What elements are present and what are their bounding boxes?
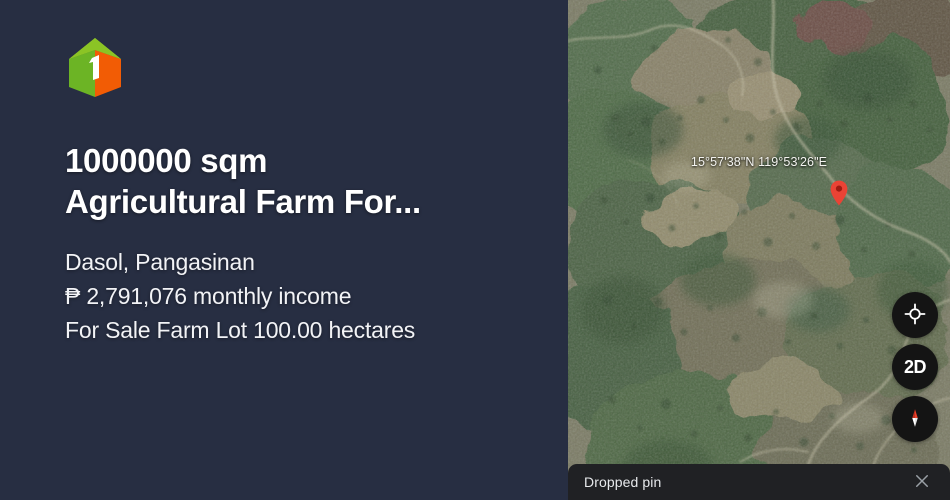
listing-location: Dasol, Pangasinan	[65, 245, 545, 279]
map-pin-icon[interactable]	[830, 180, 848, 206]
compass-button[interactable]	[892, 396, 938, 442]
listing-preview-card: 1000000 sqm Agricultural Farm For... Das…	[0, 0, 950, 500]
listing-meta: Dasol, Pangasinan ₱ 2,791,076 monthly in…	[65, 245, 545, 347]
listing-price: ₱ 2,791,076 monthly income	[65, 279, 545, 313]
locate-button[interactable]	[892, 292, 938, 338]
crosshair-icon	[904, 303, 926, 328]
dropped-pin-label: Dropped pin	[584, 474, 910, 490]
house-logo	[64, 36, 126, 100]
compass-icon	[904, 406, 926, 433]
listing-property-details: For Sale Farm Lot 100.00 hectares	[65, 313, 545, 347]
close-button[interactable]	[910, 470, 934, 494]
page-title-line1: 1000000 sqm	[65, 140, 545, 181]
page-title-line2: Agricultural Farm For...	[65, 181, 545, 222]
2d-icon: 2D	[904, 357, 926, 378]
dropped-pin-bar: Dropped pin	[568, 464, 950, 500]
listing-details: 1000000 sqm Agricultural Farm For... Das…	[65, 140, 545, 347]
close-icon	[913, 472, 931, 493]
view-mode-button[interactable]: 2D	[892, 344, 938, 390]
map-panel[interactable]: 15°57'38"N 119°53'26"E	[568, 0, 950, 500]
listing-info-panel: 1000000 sqm Agricultural Farm For... Das…	[0, 0, 568, 500]
map-controls: 2D	[892, 292, 938, 442]
